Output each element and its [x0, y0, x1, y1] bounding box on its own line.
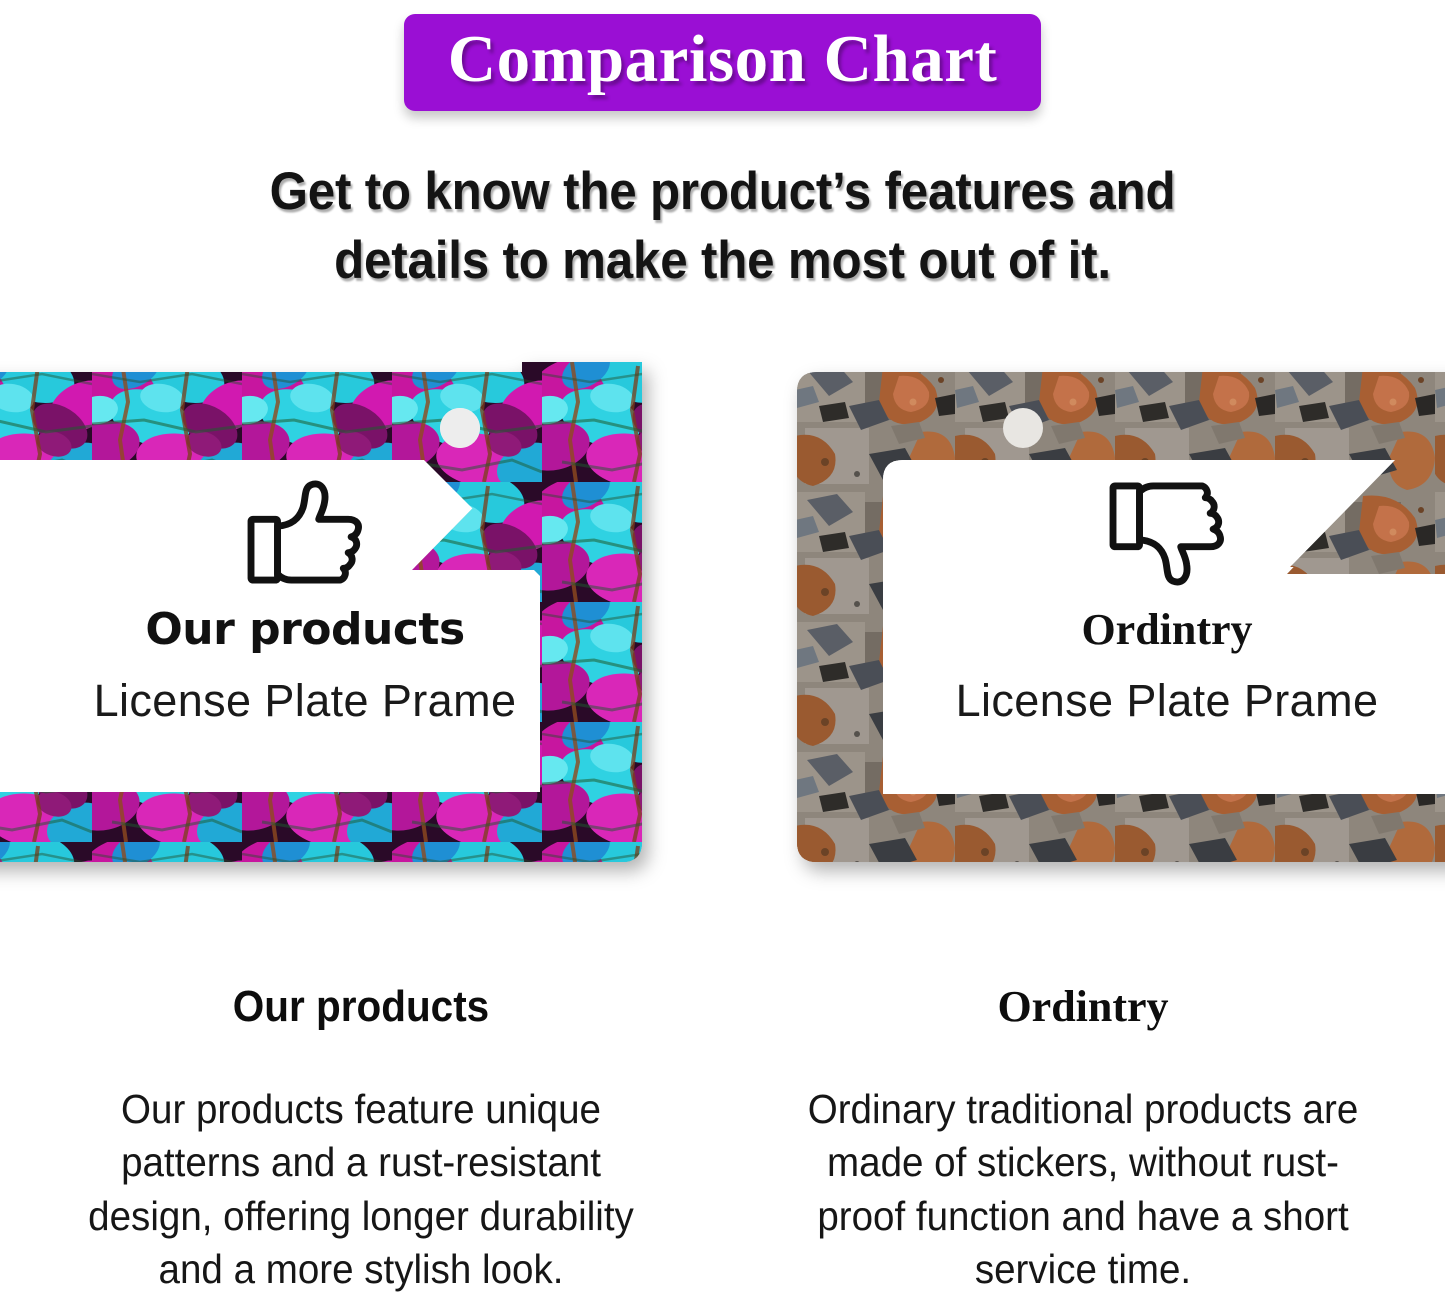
mounting-hole	[1003, 408, 1043, 448]
description-column-ours: Our products Our products feature unique…	[0, 985, 722, 1296]
description-body-ordinary: Ordinary traditional products are made o…	[744, 1083, 1423, 1296]
description-heading-ours: Our products	[29, 985, 693, 1029]
thumbs-down-icon	[1108, 480, 1226, 586]
thumbs-up-icon	[246, 480, 364, 586]
plate-content-ours: Our products License Plate Prame	[0, 480, 610, 723]
plate-subheading-ours: License Plate Prame	[94, 678, 517, 723]
description-body-ours: Our products feature unique patterns and…	[22, 1083, 701, 1296]
plate-heading-ours: Our products	[145, 608, 464, 652]
description-heading-ordinary: Ordintry	[722, 985, 1444, 1029]
plate-content-ordinary: Ordintry License Plate Prame	[862, 480, 1445, 723]
description-column-ordinary: Ordintry Ordinary traditional products a…	[722, 985, 1444, 1296]
comparison-descriptions: Our products Our products feature unique…	[0, 985, 1445, 1296]
plate-heading-ordinary: Ordintry	[1081, 608, 1252, 652]
plate-subheading-ordinary: License Plate Prame	[956, 678, 1379, 723]
